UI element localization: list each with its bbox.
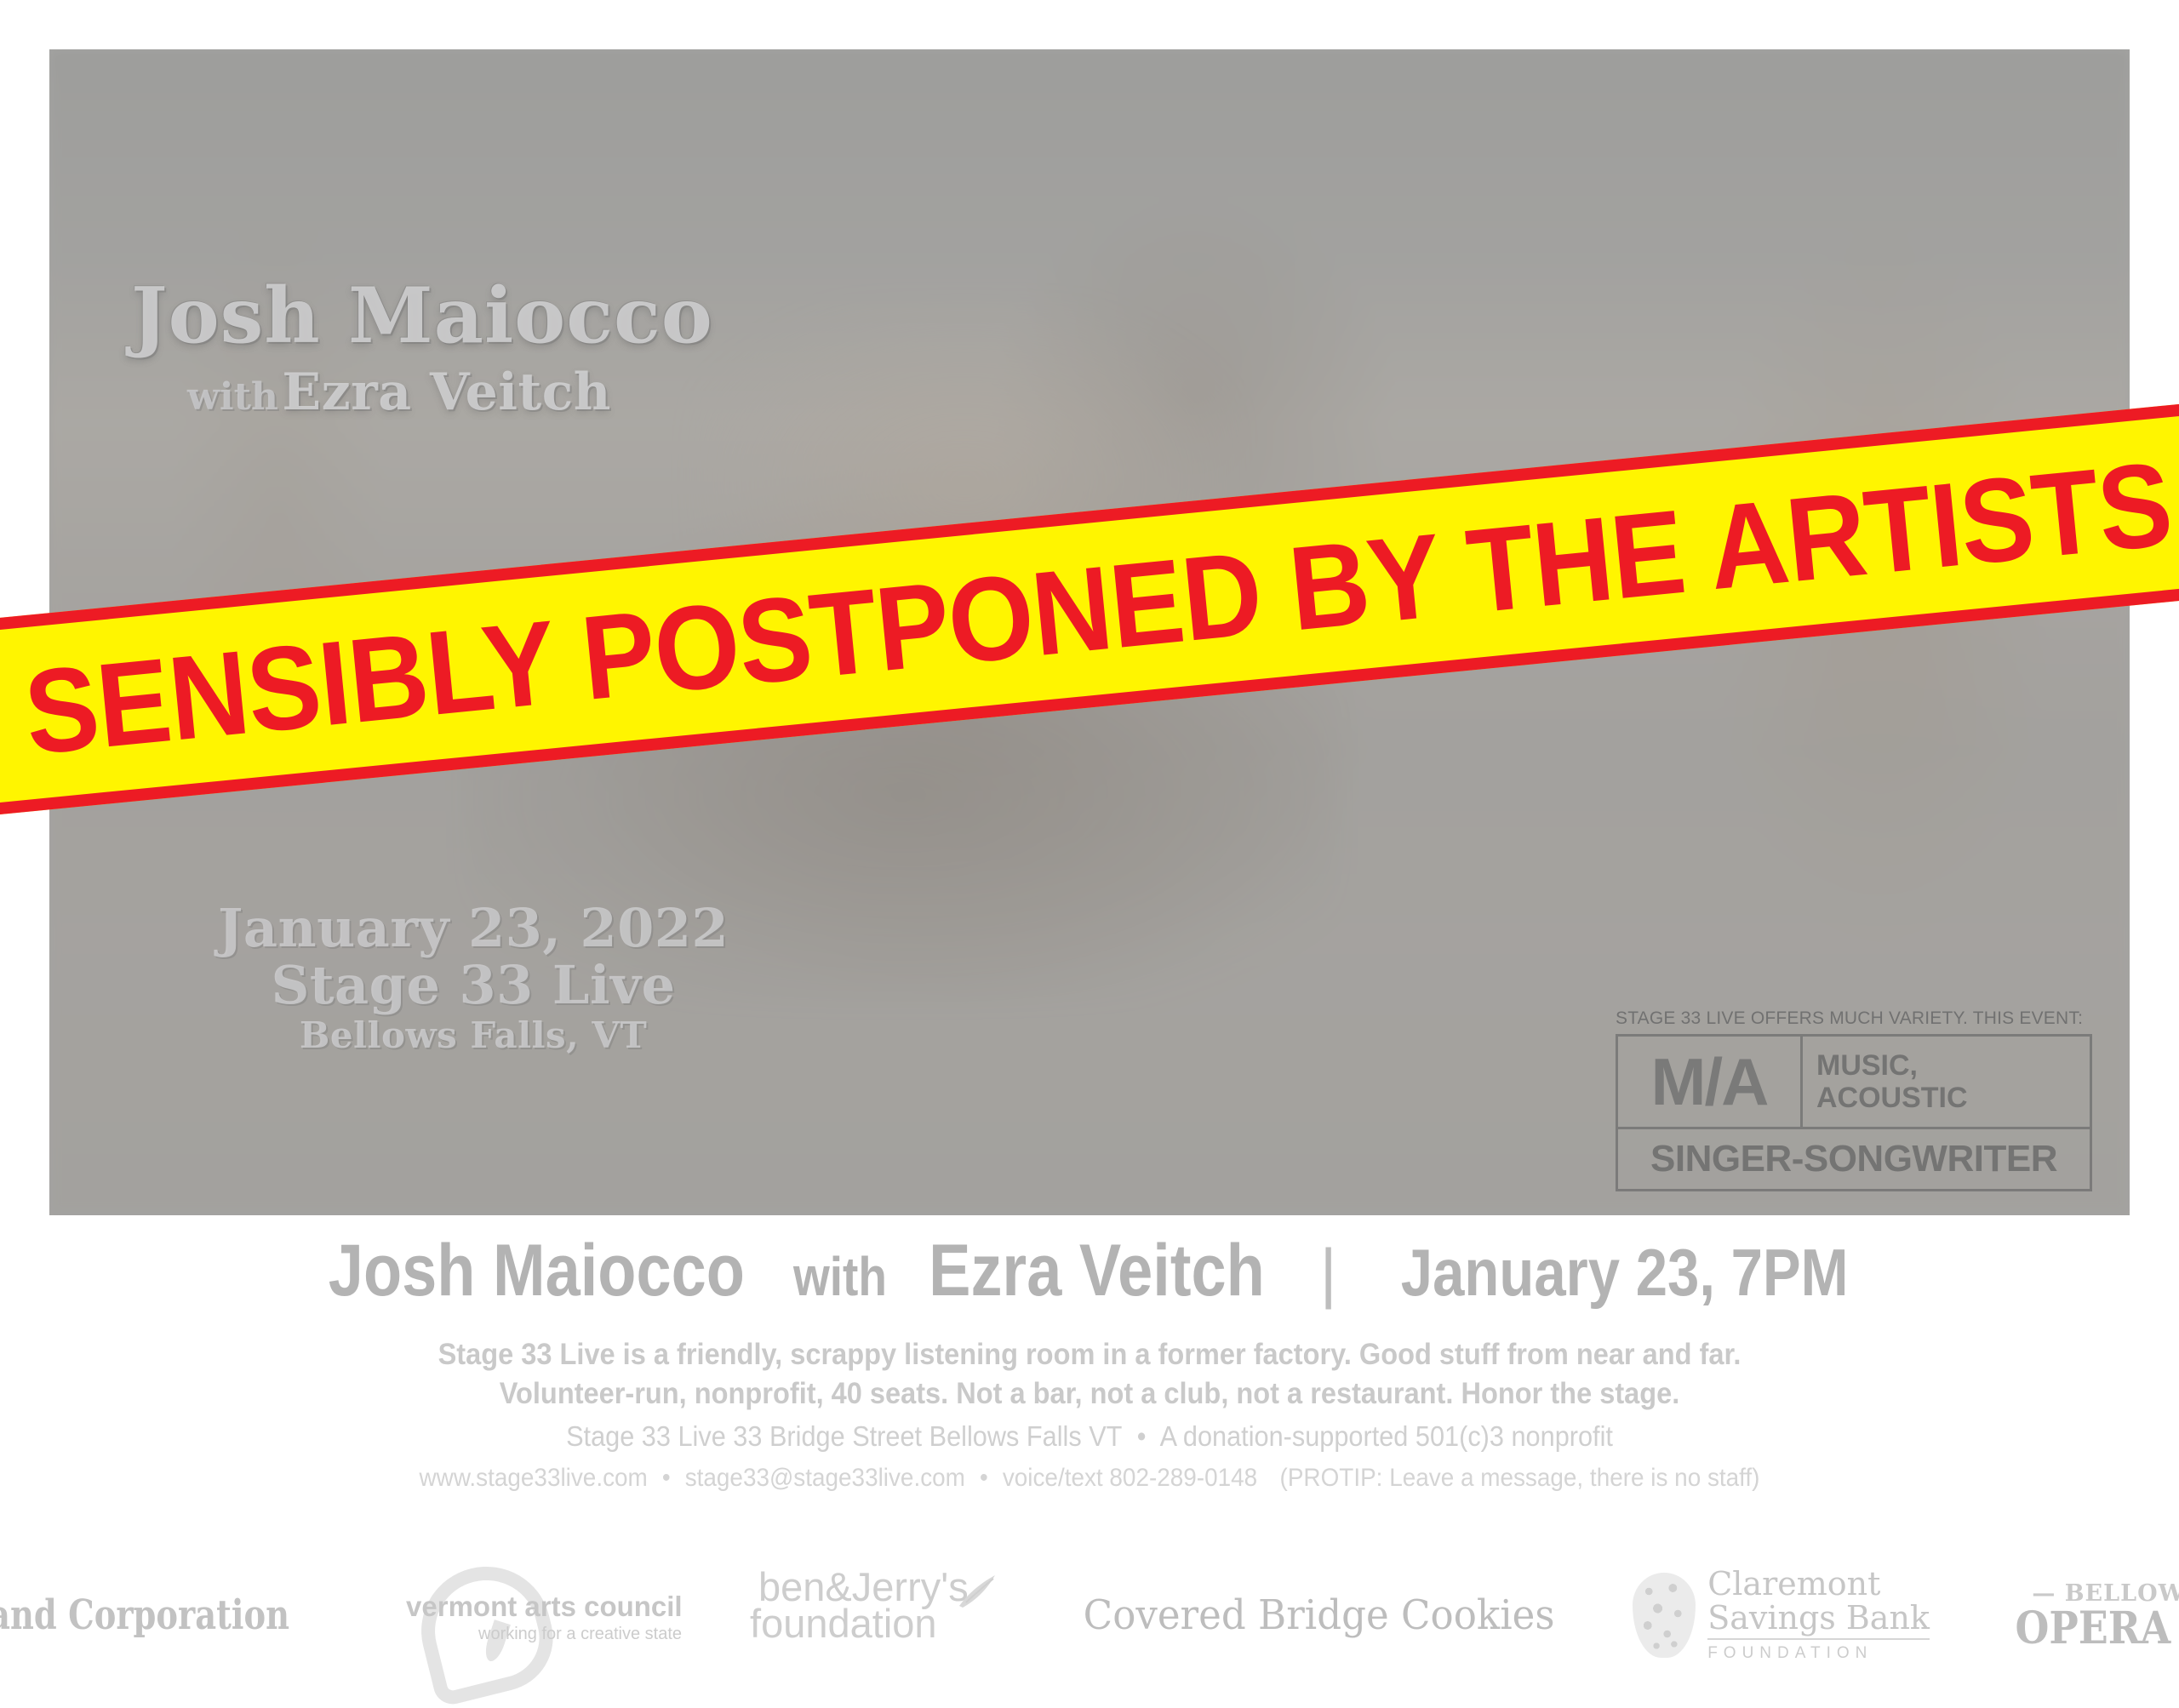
claremont-savings-bank-logo: Claremont Savings Bank FOUNDATION — [1633, 1568, 1930, 1663]
protip-spacer — [1264, 1464, 1280, 1492]
headline-artist-name: Josh Maiocco — [328, 1229, 744, 1313]
sponsor-ben-and-jerrys-foundation: ben&Jerry's foundation — [750, 1568, 1005, 1662]
vac-name: vermont arts council — [406, 1591, 687, 1623]
venue-address: Stage 33 Live 33 Bridge Street Bellows F… — [566, 1420, 1122, 1452]
genre-word-line1: MUSIC, — [1816, 1049, 2090, 1082]
covered-bridge-cookies-logo-text: Covered Bridge Cookies — [1084, 1591, 1555, 1639]
bullet-separator-3: • — [972, 1464, 996, 1492]
claremont-line1: Claremont — [1707, 1568, 1930, 1602]
vac-logo-text: vermont arts council working for a creat… — [406, 1591, 687, 1644]
sponsor-vermont-arts-council: vermont arts council working for a creat… — [406, 1568, 687, 1662]
venue-description-line2: Volunteer-run, nonprofit, 40 seats. Not … — [77, 1374, 2103, 1414]
overlay-venue-city: Bellows Falls, VT — [218, 1014, 729, 1057]
island-corporation-logo-text: The Island Corporation — [0, 1591, 289, 1639]
bullet-separator-2: • — [655, 1464, 678, 1492]
genre-badge-top-row: M/A MUSIC, ACOUSTIC — [1616, 1034, 2092, 1129]
overlay-support-artist: Ezra Veitch — [282, 363, 611, 422]
headline-support-artist: Ezra Veitch — [929, 1229, 1265, 1313]
bellows-falls-opera-house-logo: BELLOWS FALLS OPERA HOUSE — [1993, 1580, 2179, 1651]
genre-badge: STAGE 33 LIVE OFFERS MUCH VARIETY. THIS … — [1616, 1008, 2092, 1191]
ben-and-jerrys-line2: foundation — [750, 1605, 1005, 1642]
vac-tagline: working for a creative state — [406, 1625, 687, 1644]
genre-code: M/A — [1618, 1037, 1803, 1127]
overlay-with-label: with — [187, 375, 278, 419]
bfoh-line2: OPERA HOUSE — [2016, 1607, 2179, 1651]
event-headline: Josh Maiocco with Ezra Veitch | January … — [0, 1229, 2179, 1313]
bullet-separator-1: • — [1129, 1420, 1153, 1452]
headline-with-label: with — [790, 1245, 889, 1308]
overlay-artist-name: Josh Maiocco — [131, 277, 713, 354]
sponsor-bellows-falls-opera-house: BELLOWS FALLS OPERA HOUSE — [1993, 1568, 2179, 1662]
venue-contact-line: www.stage33live.com • stage33@stage33liv… — [77, 1460, 2103, 1497]
overlay-event-info: January 23, 2022 Stage 33 Live Bellows F… — [218, 900, 729, 1057]
sponsor-logo-row: The Island Corporation vermont arts coun… — [0, 1564, 2179, 1666]
vermont-arts-council-logo: vermont arts council working for a creat… — [406, 1568, 687, 1662]
sponsor-claremont-savings-bank: Claremont Savings Bank FOUNDATION — [1633, 1568, 1930, 1662]
claremont-shield-icon — [1633, 1573, 1696, 1658]
venue-protip: (PROTIP: Leave a message, there is no st… — [1280, 1464, 1760, 1492]
genre-subgenre: SINGER-SONGWRITER — [1616, 1129, 2092, 1191]
venue-description-line1: Stage 33 Live is a friendly, scrappy lis… — [77, 1335, 2103, 1374]
venue-website[interactable]: www.stage33live.com — [420, 1464, 648, 1492]
overlay-support-row: with Ezra Veitch — [187, 363, 713, 422]
genre-words: MUSIC, ACOUSTIC — [1803, 1037, 2090, 1127]
poster-lower-content: Josh Maiocco with Ezra Veitch | January … — [0, 1219, 2179, 1497]
genre-badge-caption: STAGE 33 LIVE OFFERS MUCH VARIETY. THIS … — [1616, 1008, 2092, 1029]
venue-phone[interactable]: voice/text 802-289-0148 — [1003, 1464, 1257, 1492]
venue-address-line: Stage 33 Live 33 Bridge Street Bellows F… — [77, 1417, 2103, 1457]
overlay-event-date: January 23, 2022 — [218, 900, 729, 957]
overlay-venue-name: Stage 33 Live — [218, 957, 729, 1014]
nonprofit-status: A donation-supported 501(c)3 nonprofit — [1160, 1420, 1613, 1452]
overlay-title-block: Josh Maiocco with Ezra Veitch — [131, 277, 713, 422]
leaf-icon — [954, 1572, 998, 1609]
ben-and-jerrys-logo: ben&Jerry's foundation — [750, 1568, 1005, 1662]
sponsor-covered-bridge-cookies: Covered Bridge Cookies — [1068, 1568, 1570, 1662]
sponsor-island-corporation: The Island Corporation — [0, 1568, 343, 1662]
venue-description: Stage 33 Live is a friendly, scrappy lis… — [0, 1335, 2179, 1497]
claremont-line2: Savings Bank — [1707, 1602, 1930, 1640]
venue-email[interactable]: stage33@stage33live.com — [685, 1464, 965, 1492]
claremont-line3: FOUNDATION — [1707, 1644, 1930, 1663]
claremont-logo-text: Claremont Savings Bank FOUNDATION — [1707, 1568, 1930, 1663]
headline-separator: | — [1295, 1234, 1360, 1311]
genre-word-line2: ACOUSTIC — [1816, 1082, 2090, 1114]
headline-date-time: January 23, 7PM — [1401, 1234, 1849, 1311]
